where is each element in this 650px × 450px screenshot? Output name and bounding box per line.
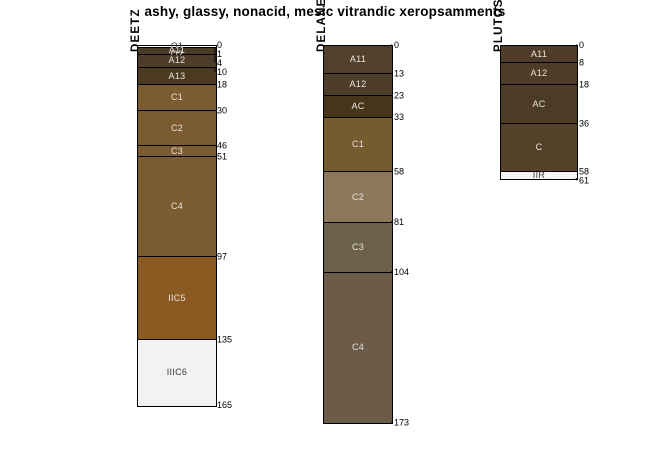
depth-tick-label: 0 (579, 40, 584, 50)
horizon-band: A11 (501, 46, 577, 63)
horizon-band: AC (501, 85, 577, 124)
horizon-band: IIR (501, 172, 577, 179)
soil-profile-plutos: PLUTOSA11A12ACCIIR0818365861 (0, 0, 650, 450)
profile-column-plutos: A11A12ACCIIR (500, 45, 578, 180)
soil-profile-chart: ashy, glassy, nonacid, mesic vitrandic x… (0, 0, 650, 450)
depth-tick-label: 36 (579, 119, 589, 129)
horizon-label: A11 (531, 50, 547, 59)
horizon-label: AC (532, 100, 545, 109)
horizon-band: A12 (501, 63, 577, 85)
depth-tick-label: 58 (579, 167, 589, 177)
horizon-label: IIR (533, 171, 545, 180)
depth-tick-label: 61 (579, 176, 589, 186)
horizon-band: C (501, 124, 577, 172)
depth-tick-label: 8 (579, 58, 584, 68)
depth-tick-label: 18 (579, 79, 589, 89)
horizon-label: A12 (531, 69, 548, 78)
horizon-label: C (536, 143, 543, 152)
